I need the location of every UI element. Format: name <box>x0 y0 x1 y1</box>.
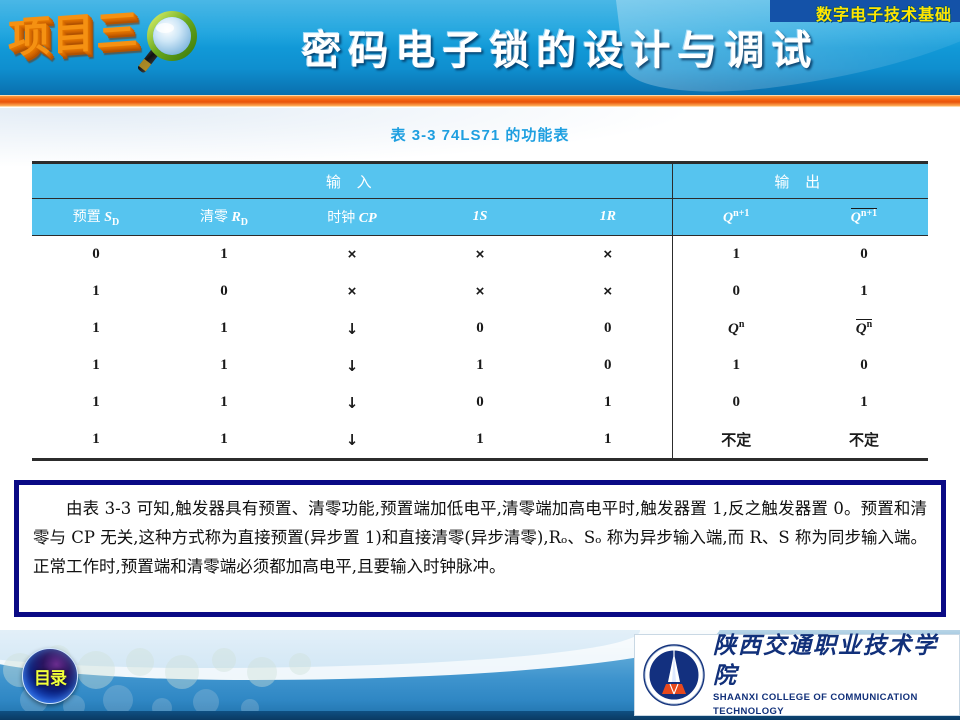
cell-rd: 1 <box>160 421 288 460</box>
table-body: 0 1 × × × 1 0 1 0 × × × 0 1 1 1 ↓ 0 <box>32 236 928 460</box>
cell-1r: 1 <box>544 421 672 460</box>
cell-1r: 0 <box>544 310 672 347</box>
table-row: 1 1 ↓ 0 0 Qn Qn <box>32 310 928 347</box>
magnifier-icon <box>125 10 201 86</box>
col-header-1s: 1S <box>416 199 544 236</box>
cell-qbar: 0 <box>800 347 928 384</box>
cell-qbar: 1 <box>800 273 928 310</box>
explanation-textbox: 由表 3-3 可知,触发器具有预置、清零功能,预置端加低电平,清零端加高电平时,… <box>14 480 946 617</box>
cell-cp: ↓ <box>288 310 416 347</box>
cell-1s: 0 <box>416 384 544 421</box>
school-name-block: 陕西交通职业技术学院 SHAANXI COLLEGE OF COMMUNICAT… <box>713 631 959 719</box>
cell-sd: 1 <box>32 421 160 460</box>
cell-q: Qn <box>672 310 800 347</box>
table-group-header-row: 输 入 输 出 <box>32 163 928 199</box>
school-emblem-icon <box>643 644 705 706</box>
cell-1s: × <box>416 236 544 274</box>
cell-1s: × <box>416 273 544 310</box>
cell-qbar: 不定 <box>800 421 928 460</box>
header-orange-divider <box>0 95 960 107</box>
cell-1s: 1 <box>416 421 544 460</box>
table-column-header-row: 预置 SD 清零 RD 时钟 CP 1S 1R Qn+1 Qn+1 <box>32 199 928 236</box>
cell-rd: 0 <box>160 273 288 310</box>
slide-body: 表 3-3 74LS71 的功能表 输 入 输 出 预置 SD 清零 RD 时钟… <box>0 108 960 630</box>
cell-1s: 0 <box>416 310 544 347</box>
table-row: 1 1 ↓ 1 1 不定 不定 <box>32 421 928 460</box>
subject-label: 数字电子技术基础 <box>816 1 952 25</box>
col-header-preset-sd: 预置 SD <box>32 199 160 236</box>
school-logo: 陕西交通职业技术学院 SHAANXI COLLEGE OF COMMUNICAT… <box>634 634 960 716</box>
cell-cp: × <box>288 236 416 274</box>
cell-qbar: Qn <box>800 310 928 347</box>
slide-header: 数字电子技术基础 项目三 <box>0 0 960 95</box>
col-header-clock-cp: 时钟 CP <box>288 199 416 236</box>
cell-cp: × <box>288 273 416 310</box>
cell-1s: 1 <box>416 347 544 384</box>
cell-sd: 0 <box>32 236 160 274</box>
cell-q: 1 <box>672 347 800 384</box>
col-header-1r: 1R <box>544 199 672 236</box>
function-table: 输 入 输 出 预置 SD 清零 RD 时钟 CP 1S 1R Qn+1 <box>32 161 928 461</box>
table-row: 0 1 × × × 1 0 <box>32 236 928 274</box>
cell-1r: × <box>544 273 672 310</box>
cell-qbar: 0 <box>800 236 928 274</box>
cell-qbar: 1 <box>800 384 928 421</box>
cell-q: 0 <box>672 273 800 310</box>
cell-rd: 1 <box>160 236 288 274</box>
school-name-cn: 陕西交通职业技术学院 <box>713 631 959 691</box>
cell-rd: 1 <box>160 347 288 384</box>
page-title: 密码电子锁的设计与调试 <box>220 12 900 82</box>
table-caption: 表 3-3 74LS71 的功能表 <box>0 124 960 145</box>
col-header-clear-rd: 清零 RD <box>160 199 288 236</box>
cell-cp: ↓ <box>288 384 416 421</box>
cell-cp: ↓ <box>288 421 416 460</box>
cell-q: 0 <box>672 384 800 421</box>
table-row: 1 0 × × × 0 1 <box>32 273 928 310</box>
group-header-inputs: 输 入 <box>32 163 672 199</box>
cell-sd: 1 <box>32 273 160 310</box>
table-row: 1 1 ↓ 0 1 0 1 <box>32 384 928 421</box>
table-row: 1 1 ↓ 1 0 1 0 <box>32 347 928 384</box>
cell-1r: × <box>544 236 672 274</box>
cell-cp: ↓ <box>288 347 416 384</box>
school-name-en: SHAANXI COLLEGE OF COMMUNICATION TECHNOL… <box>713 691 959 719</box>
cell-rd: 1 <box>160 310 288 347</box>
toc-button-label: 目录 <box>34 664 66 689</box>
cell-1r: 0 <box>544 347 672 384</box>
cell-sd: 1 <box>32 347 160 384</box>
col-header-q-next-bar: Qn+1 <box>800 199 928 236</box>
cell-sd: 1 <box>32 384 160 421</box>
slide-footer: 目录 陕西交通职业技术学院 SHAANXI COLLEGE OF COMMUNI… <box>0 630 960 720</box>
group-header-outputs: 输 出 <box>672 163 928 199</box>
cell-q: 1 <box>672 236 800 274</box>
toc-button[interactable]: 目录 <box>22 648 78 704</box>
cell-1r: 1 <box>544 384 672 421</box>
explanation-text: 由表 3-3 可知,触发器具有预置、清零功能,预置端加低电平,清零端加高电平时,… <box>33 494 927 581</box>
cell-sd: 1 <box>32 310 160 347</box>
col-header-q-next: Qn+1 <box>672 199 800 236</box>
cell-q: 不定 <box>672 421 800 460</box>
cell-rd: 1 <box>160 384 288 421</box>
